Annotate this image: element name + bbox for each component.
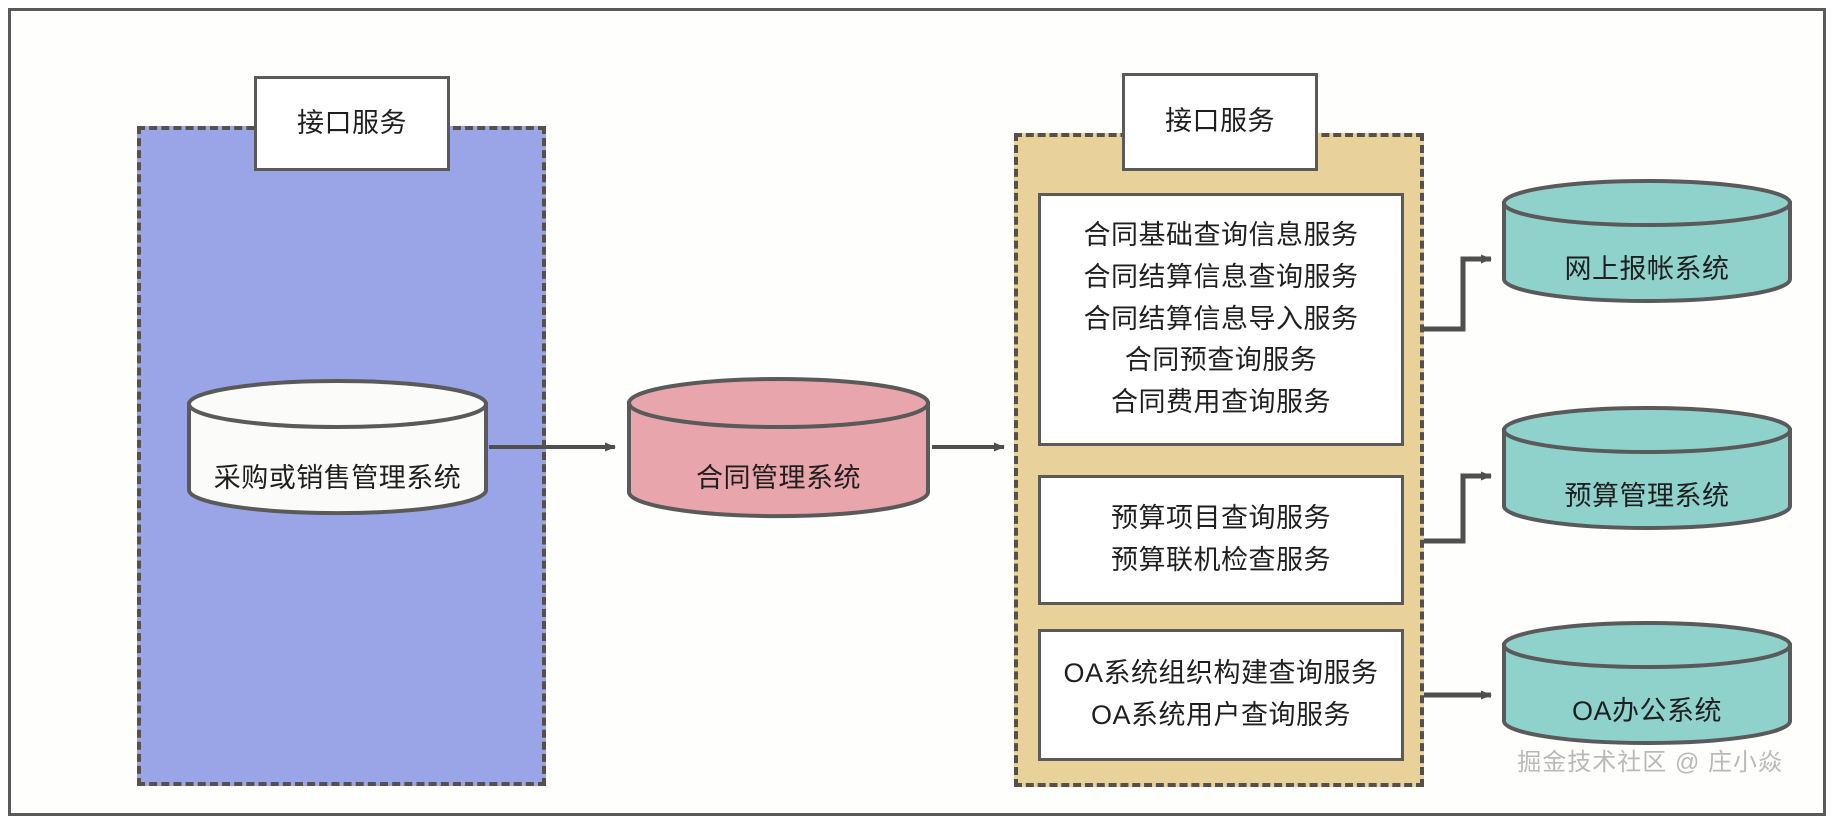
- service-item: OA系统组织构建查询服务: [1063, 653, 1378, 695]
- connector-budget-services-to-budget-system: [1424, 476, 1491, 541]
- oa-office-system-label: OA办公系统: [1501, 689, 1793, 728]
- budget-management-system-label: 预算管理系统: [1501, 474, 1793, 513]
- contract-system-label: 合同管理系统: [626, 456, 931, 495]
- diagram-frame: 采购或销售管理系统 合同管理系统 接口服务 接口服务 合同基础查询信息服务 合同…: [8, 8, 1826, 816]
- service-item: 合同预查询服务: [1125, 340, 1318, 382]
- oa-services-box: OA系统组织构建查询服务 OA系统用户查询服务: [1038, 629, 1404, 761]
- source-system-cylinder: 采购或销售管理系统: [186, 378, 489, 516]
- contract-system-cylinder: 合同管理系统: [626, 376, 931, 519]
- diagram-canvas: 采购或销售管理系统 合同管理系统 接口服务 接口服务 合同基础查询信息服务 合同…: [0, 0, 1840, 830]
- online-reimbursement-system-label: 网上报帐系统: [1501, 247, 1793, 286]
- left-interface-service-box: 接口服务: [254, 76, 450, 171]
- budget-services-box: 预算项目查询服务 预算联机检查服务: [1038, 475, 1404, 605]
- service-item: 预算联机检查服务: [1111, 540, 1331, 582]
- source-system-label: 采购或销售管理系统: [186, 456, 489, 495]
- connector-contract-services-to-reimbursement: [1424, 259, 1491, 329]
- service-item: OA系统用户查询服务: [1091, 695, 1351, 737]
- service-item: 合同结算信息查询服务: [1084, 257, 1359, 299]
- contract-services-box: 合同基础查询信息服务 合同结算信息查询服务 合同结算信息导入服务 合同预查询服务…: [1038, 193, 1404, 446]
- service-item: 合同结算信息导入服务: [1084, 299, 1359, 341]
- service-item: 合同基础查询信息服务: [1084, 215, 1359, 257]
- service-item: 合同费用查询服务: [1111, 382, 1331, 424]
- oa-office-system-cylinder: OA办公系统: [1501, 621, 1793, 746]
- watermark: 掘金技术社区 @ 庄小焱: [1517, 742, 1783, 777]
- budget-management-system-cylinder: 预算管理系统: [1501, 406, 1793, 531]
- left-interface-service-label: 接口服务: [297, 103, 407, 145]
- right-interface-service-box: 接口服务: [1122, 73, 1318, 171]
- service-item: 预算项目查询服务: [1111, 498, 1331, 540]
- online-reimbursement-system-cylinder: 网上报帐系统: [1501, 179, 1793, 304]
- right-interface-service-label: 接口服务: [1165, 101, 1275, 143]
